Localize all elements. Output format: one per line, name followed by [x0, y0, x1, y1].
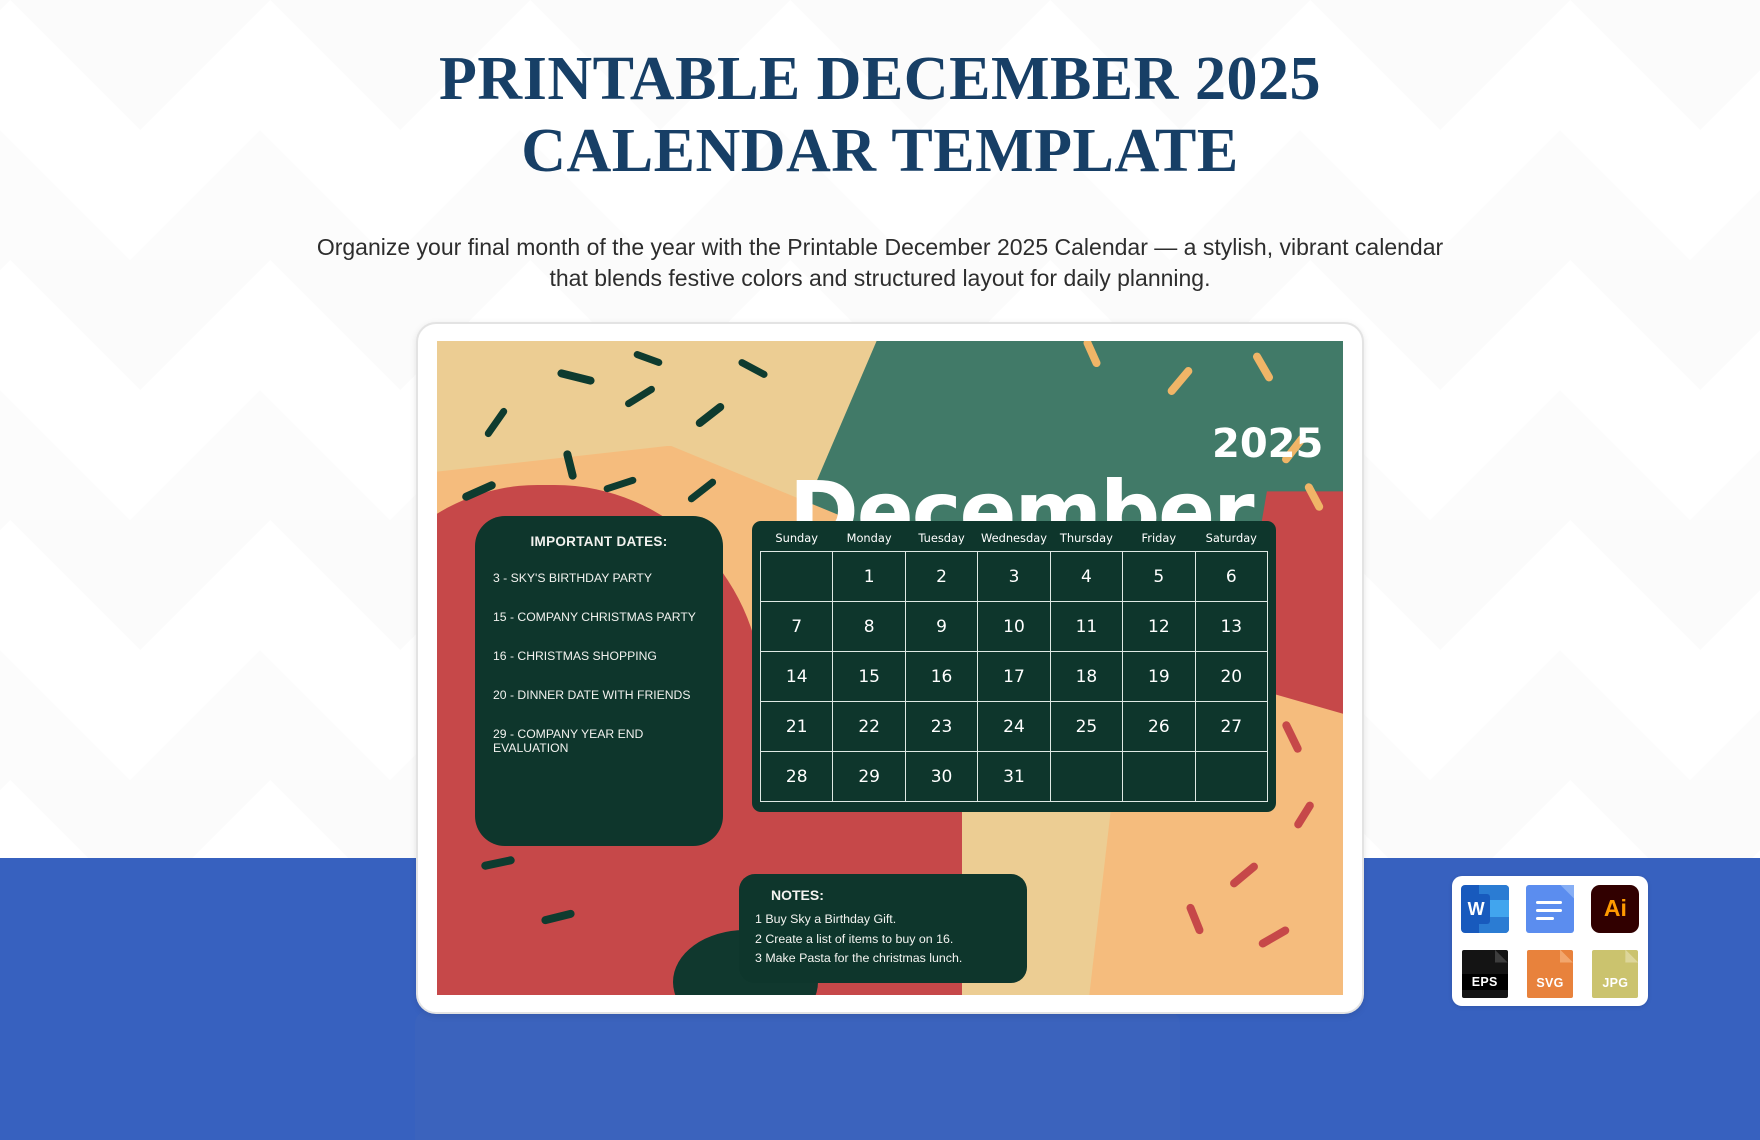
illustrator-icon-label: Ai [1591, 885, 1639, 933]
list-item: 2 Create a list of items to buy on 16. [755, 930, 1011, 949]
day-cell[interactable]: 20 [1195, 652, 1267, 702]
calendar-weekday-header-row: Sunday Monday Tuesday Wednesday Thursday… [761, 527, 1268, 552]
day-cell[interactable]: 27 [1195, 702, 1267, 752]
weekday-header: Tuesday [905, 527, 977, 552]
jpg-icon-label: JPG [1592, 976, 1638, 990]
day-cell[interactable]: 14 [761, 652, 833, 702]
eps-icon[interactable]: EPS [1462, 950, 1508, 998]
word-icon[interactable]: W [1461, 885, 1509, 933]
weekday-header: Saturday [1195, 527, 1267, 552]
list-item: 29 - COMPANY YEAR END EVALUATION [489, 727, 709, 757]
table-row: 28 29 30 31 [761, 752, 1268, 802]
list-item: 1 Buy Sky a Birthday Gift. [755, 910, 1011, 929]
day-cell[interactable]: 6 [1195, 552, 1267, 602]
day-cell[interactable]: 30 [905, 752, 977, 802]
day-cell[interactable]: 2 [905, 552, 977, 602]
day-cell[interactable] [1050, 752, 1122, 802]
day-cell[interactable]: 10 [978, 602, 1050, 652]
day-cell[interactable]: 25 [1050, 702, 1122, 752]
list-item: 3 - SKY'S BIRTHDAY PARTY [489, 571, 709, 586]
day-cell[interactable]: 5 [1123, 552, 1195, 602]
google-docs-icon[interactable] [1526, 885, 1574, 933]
svg-icon-label: SVG [1527, 976, 1573, 990]
day-cell[interactable]: 26 [1123, 702, 1195, 752]
jpg-icon[interactable]: JPG [1592, 950, 1638, 998]
notes-card: NOTES: 1 Buy Sky a Birthday Gift. 2 Crea… [739, 874, 1027, 983]
table-row: 1 2 3 4 5 6 [761, 552, 1268, 602]
day-cell[interactable]: 23 [905, 702, 977, 752]
day-cell[interactable]: 12 [1123, 602, 1195, 652]
day-cell[interactable]: 21 [761, 702, 833, 752]
weekday-header: Wednesday [978, 527, 1050, 552]
day-cell[interactable] [1123, 752, 1195, 802]
tablet-frame-preview[interactable]: 2025 December IMPORTANT DATES: 3 - SKY'S… [416, 322, 1364, 1014]
day-cell[interactable]: 19 [1123, 652, 1195, 702]
weekday-header: Monday [833, 527, 905, 552]
day-cell[interactable]: 29 [833, 752, 905, 802]
google-docs-icon-line [1536, 917, 1554, 920]
svg-icon[interactable]: SVG [1527, 950, 1573, 998]
day-cell[interactable]: 16 [905, 652, 977, 702]
weekday-header: Friday [1123, 527, 1195, 552]
important-dates-card: IMPORTANT DATES: 3 - SKY'S BIRTHDAY PART… [475, 516, 723, 846]
important-dates-heading: IMPORTANT DATES: [489, 534, 709, 549]
day-cell[interactable] [761, 552, 833, 602]
illustrator-icon[interactable]: Ai [1591, 885, 1639, 933]
weekday-header: Sunday [761, 527, 833, 552]
list-item: 15 - COMPANY CHRISTMAS PARTY [489, 610, 709, 625]
day-cell[interactable]: 9 [905, 602, 977, 652]
day-cell[interactable]: 15 [833, 652, 905, 702]
day-cell[interactable]: 31 [978, 752, 1050, 802]
list-item: 16 - CHRISTMAS SHOPPING [489, 649, 709, 664]
day-cell[interactable]: 28 [761, 752, 833, 802]
google-docs-icon-line [1536, 909, 1562, 912]
day-cell[interactable]: 8 [833, 602, 905, 652]
page-title: PRINTABLE DECEMBER 2025 CALENDAR TEMPLAT… [0, 44, 1760, 188]
page-subtitle: Organize your final month of the year wi… [310, 232, 1450, 294]
day-cell[interactable]: 24 [978, 702, 1050, 752]
day-cell[interactable]: 7 [761, 602, 833, 652]
eps-icon-label: EPS [1462, 974, 1508, 990]
day-cell[interactable]: 17 [978, 652, 1050, 702]
day-cell[interactable]: 11 [1050, 602, 1122, 652]
important-dates-list: 3 - SKY'S BIRTHDAY PARTY 15 - COMPANY CH… [489, 571, 709, 756]
day-cell[interactable]: 13 [1195, 602, 1267, 652]
list-item: 3 Make Pasta for the christmas lunch. [755, 949, 1011, 968]
notes-list: 1 Buy Sky a Birthday Gift. 2 Create a li… [755, 910, 1011, 968]
background-blue-shadow-block [415, 1010, 1180, 1140]
day-cell[interactable]: 1 [833, 552, 905, 602]
day-cell[interactable]: 4 [1050, 552, 1122, 602]
table-row: 21 22 23 24 25 26 27 [761, 702, 1268, 752]
calendar-grid-card: Sunday Monday Tuesday Wednesday Thursday… [752, 521, 1276, 812]
calendar-table: Sunday Monday Tuesday Wednesday Thursday… [760, 527, 1268, 802]
list-item: 20 - DINNER DATE WITH FRIENDS [489, 688, 709, 703]
table-row: 7 8 9 10 11 12 13 [761, 602, 1268, 652]
day-cell[interactable] [1195, 752, 1267, 802]
google-docs-icon-line [1536, 901, 1562, 904]
word-icon-label: W [1463, 894, 1490, 924]
file-formats-panel: W Ai EPS SVG JPG [1452, 876, 1648, 1006]
calendar-year: 2025 [1212, 421, 1323, 467]
calendar-artwork: 2025 December IMPORTANT DATES: 3 - SKY'S… [437, 341, 1343, 995]
day-cell[interactable]: 18 [1050, 652, 1122, 702]
day-cell[interactable]: 3 [978, 552, 1050, 602]
google-docs-icon-fold [1560, 885, 1574, 899]
page-root: PRINTABLE DECEMBER 2025 CALENDAR TEMPLAT… [0, 0, 1760, 1140]
day-cell[interactable]: 22 [833, 702, 905, 752]
notes-heading: NOTES: [755, 887, 1011, 903]
table-row: 14 15 16 17 18 19 20 [761, 652, 1268, 702]
weekday-header: Thursday [1050, 527, 1122, 552]
